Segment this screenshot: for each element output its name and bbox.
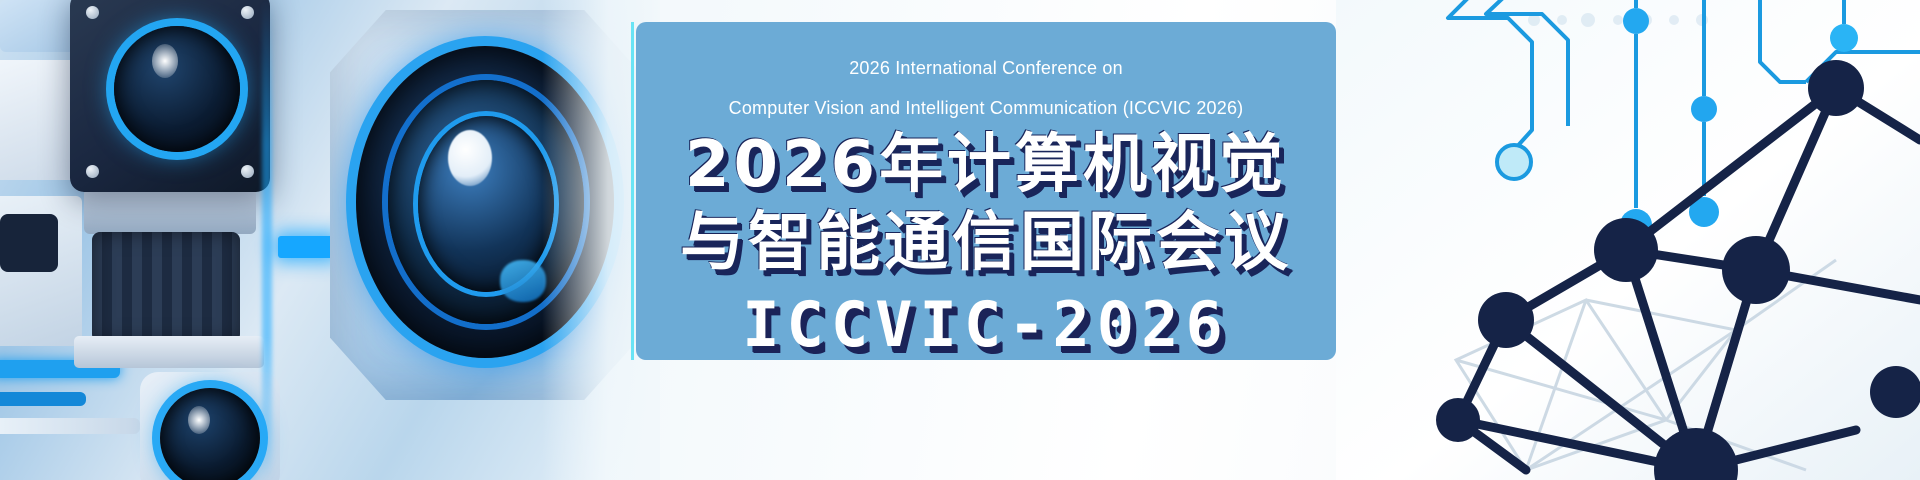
camera-base-plate: [74, 336, 264, 368]
title-panel: 2026 International Conference on Compute…: [636, 22, 1336, 360]
camera-lens-icon: [160, 388, 260, 480]
left-robot-camera-artwork: [0, 0, 660, 480]
edge-glow: [262, 0, 272, 480]
screw-icon: [241, 6, 254, 19]
chinese-title-line-1: 2026年计算机视觉: [636, 126, 1336, 204]
panel-accent-line: [631, 22, 634, 360]
conference-banner: 2026 International Conference on Compute…: [0, 0, 1920, 480]
english-title-line-1: 2026 International Conference on: [636, 58, 1336, 79]
tertiary-camera-module: [140, 372, 280, 480]
right-tech-artwork: [1336, 0, 1920, 480]
robot-glow-strip-2: [0, 392, 86, 406]
robot-body-vent: [0, 214, 58, 272]
screw-icon: [241, 165, 254, 178]
screw-icon: [86, 165, 99, 178]
english-title-line-2: Computer Vision and Intelligent Communic…: [636, 98, 1336, 119]
lens-highlight: [152, 44, 178, 78]
chinese-title-line-2: 与智能通信国际会议: [636, 204, 1336, 282]
robot-body-panel-3: [0, 418, 140, 434]
camera-neck: [84, 188, 256, 234]
camera-lens-icon: [114, 26, 240, 152]
primary-camera-lens-assembly: [330, 10, 640, 400]
lens-highlight: [448, 130, 492, 186]
lens-flare: [500, 260, 546, 302]
screw-icon: [86, 6, 99, 19]
secondary-camera-module: [70, 0, 270, 192]
camera-barrel: [92, 232, 240, 342]
lens-highlight: [188, 406, 210, 434]
blue-glow-accent: [278, 236, 336, 258]
circuit-and-network-svg: [1336, 0, 1920, 480]
conference-acronym: ICCVIC-2026: [636, 292, 1336, 358]
chinese-title-block: 2026年计算机视觉 与智能通信国际会议 ICCVIC-2026: [636, 126, 1336, 358]
